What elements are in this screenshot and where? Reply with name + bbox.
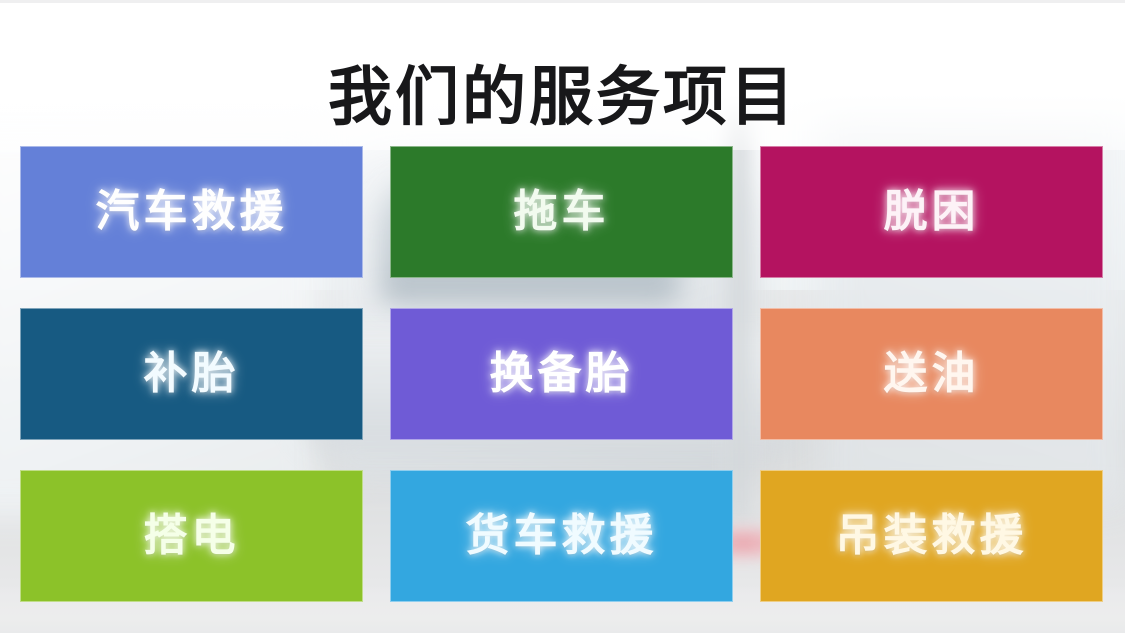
service-tile-label: 货车救援 — [466, 514, 658, 558]
service-items-poster: 我们的服务项目 汽车救援 拖车 脱困 补胎 换备胎 送油 搭电 货车救援 吊装救… — [0, 0, 1125, 633]
service-tile-hoisting-rescue[interactable]: 吊装救援 — [760, 470, 1103, 602]
service-tile-grid: 汽车救援 拖车 脱困 补胎 换备胎 送油 搭电 货车救援 吊装救援 — [20, 146, 1104, 601]
service-tile-tire-repair[interactable]: 补胎 — [20, 308, 363, 440]
background-top-edge-line — [0, 0, 1125, 3]
service-tile-spare-tire-change[interactable]: 换备胎 — [390, 308, 733, 440]
service-tile-label: 搭电 — [144, 514, 240, 558]
service-tile-label: 吊装救援 — [836, 514, 1028, 558]
service-tile-label: 拖车 — [514, 190, 610, 234]
page-title-container: 我们的服务项目 — [0, 22, 1125, 172]
service-tile-label: 脱困 — [884, 190, 980, 234]
service-tile-jump-start[interactable]: 搭电 — [20, 470, 363, 602]
service-tile-truck-rescue[interactable]: 货车救援 — [390, 470, 733, 602]
service-tile-label: 换备胎 — [490, 352, 634, 396]
service-tile-label: 汽车救援 — [96, 190, 288, 234]
service-tile-label: 送油 — [884, 352, 980, 396]
page-title: 我们的服务项目 — [328, 65, 797, 129]
service-tile-fuel-delivery[interactable]: 送油 — [760, 308, 1103, 440]
service-tile-label: 补胎 — [144, 352, 240, 396]
